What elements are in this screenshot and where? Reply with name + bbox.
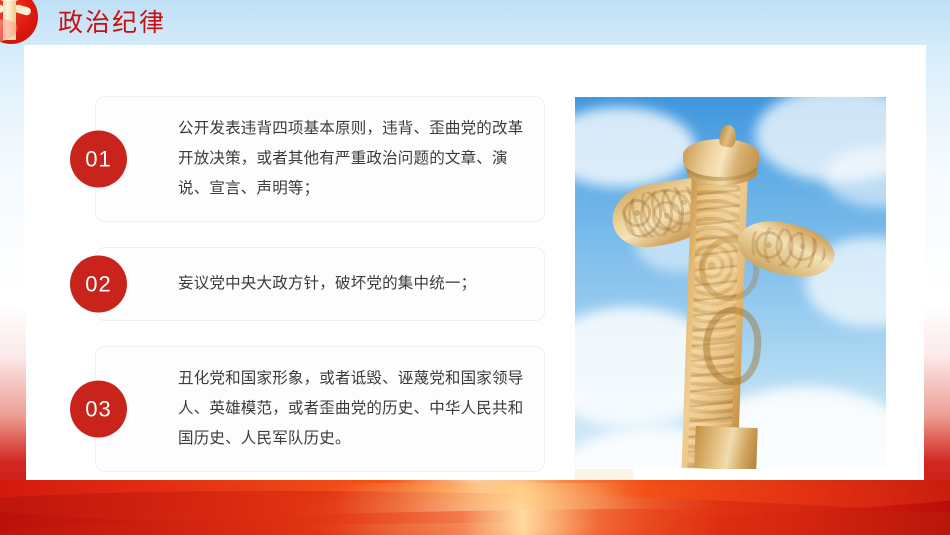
item-text: 公开发表违背四项基本原则，违背、歪曲党的改革开放决策，或者其他有严重政治问题的文… bbox=[178, 114, 530, 204]
item-number-badge: 01 bbox=[70, 131, 127, 188]
huabiao-column-graphic bbox=[575, 97, 886, 469]
party-monument-emblem-icon bbox=[0, 0, 42, 48]
slide-root: 政治纪律 01 公开发表违背四项基本原则，违背、歪曲党的改革开放决策，或者其他有… bbox=[0, 0, 950, 535]
discipline-list: 01 公开发表违背四项基本原则，违背、歪曲党的改革开放决策，或者其他有严重政治问… bbox=[95, 96, 545, 472]
huabiao-base bbox=[694, 426, 757, 469]
item-text: 丑化党和国家形象，或者诋毁、诬蔑党和国家领导人、英雄模范，或者歪曲党的历史、中华… bbox=[178, 364, 530, 454]
page-title: 政治纪律 bbox=[58, 4, 166, 42]
slide-header: 政治纪律 bbox=[0, 0, 950, 45]
item-number-badge: 03 bbox=[70, 381, 127, 438]
list-item[interactable]: 01 公开发表违背四项基本原则，违背、歪曲党的改革开放决策，或者其他有严重政治问… bbox=[95, 96, 545, 222]
list-item[interactable]: 03 丑化党和国家形象，或者诋毁、诬蔑党和国家领导人、英雄模范，或者歪曲党的历史… bbox=[95, 346, 545, 472]
bottom-ribbon-decoration bbox=[0, 480, 950, 535]
item-number-badge: 02 bbox=[70, 256, 127, 313]
huabiao-ornamental-column-photo bbox=[575, 97, 886, 469]
content-panel: 01 公开发表违背四项基本原则，违背、歪曲党的改革开放决策，或者其他有严重政治问… bbox=[24, 45, 926, 508]
list-item[interactable]: 02 妄议党中央大政方针，破坏党的集中统一； bbox=[95, 247, 545, 321]
item-text: 妄议党中央大政方针，破坏党的集中统一； bbox=[178, 269, 476, 299]
